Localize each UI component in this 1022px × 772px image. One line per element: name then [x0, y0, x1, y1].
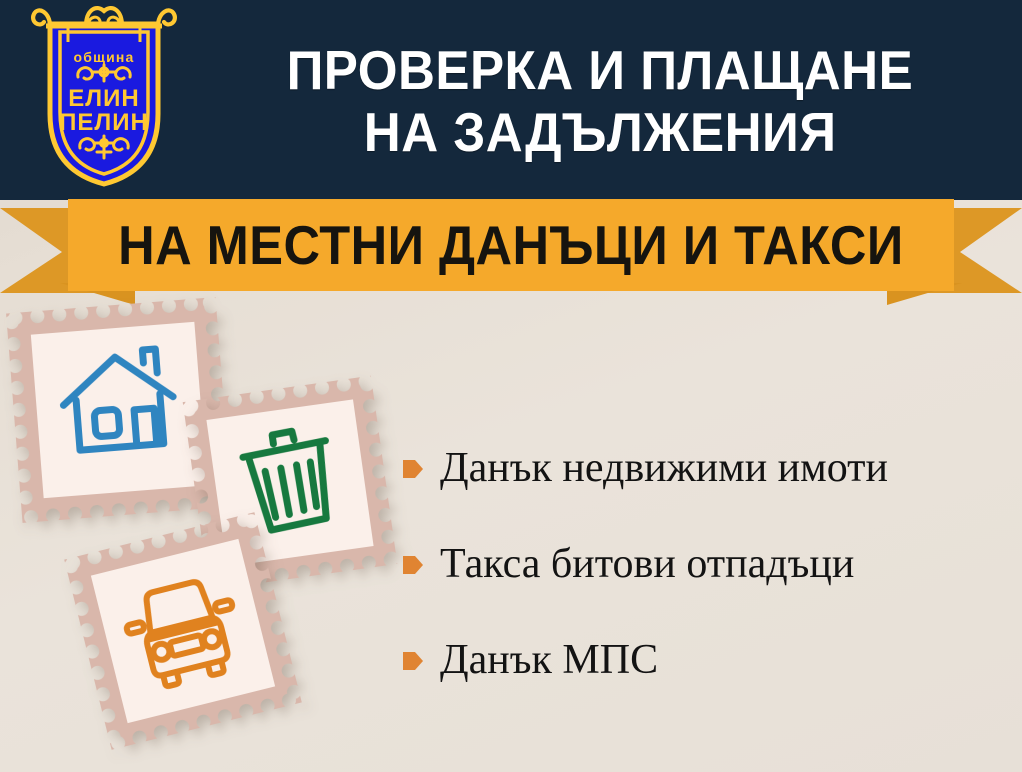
logo-text-obshtina: община [73, 49, 134, 65]
arrow-bullet-icon [402, 457, 424, 481]
list-item[interactable]: Такса битови отпадъци [402, 516, 1017, 612]
page-title-line-1: ПРОВЕРКА И ПЛАЩАНЕ [287, 40, 914, 102]
ribbon-body: НА МЕСТНИ ДАНЪЦИ И ТАКСИ [68, 199, 954, 291]
ribbon-label: НА МЕСТНИ ДАНЪЦИ И ТАКСИ [118, 218, 904, 273]
tax-types-list: Данък недвижими имоти Такса битови отпад… [402, 420, 1017, 710]
list-item[interactable]: Данък МПС [402, 612, 1017, 708]
list-item-label: Данък недвижими имоти [440, 447, 888, 489]
arrow-bullet-icon [402, 649, 424, 673]
header-banner: община ЕЛИН ПЕЛИН [0, 0, 1022, 200]
stamp-group [0, 295, 420, 772]
municipality-logo: община ЕЛИН ПЕЛИН [28, 2, 180, 192]
list-item[interactable]: Данък недвижими имоти [402, 420, 1017, 516]
page-title-line-2: НА ЗАДЪЛЖЕНИЯ [364, 102, 837, 164]
logo-text-pelin: ПЕЛИН [59, 109, 149, 136]
list-item-label: Данък МПС [440, 639, 658, 681]
arrow-bullet-icon [402, 553, 424, 577]
list-item-label: Такса битови отпадъци [440, 543, 854, 585]
page-title: ПРОВЕРКА И ПЛАЩАНЕ НА ЗАДЪЛЖЕНИЯ [195, 22, 1005, 182]
subtitle-ribbon: НА МЕСТНИ ДАНЪЦИ И ТАКСИ [0, 199, 1022, 294]
logo-text-elin: ЕЛИН [68, 85, 139, 112]
